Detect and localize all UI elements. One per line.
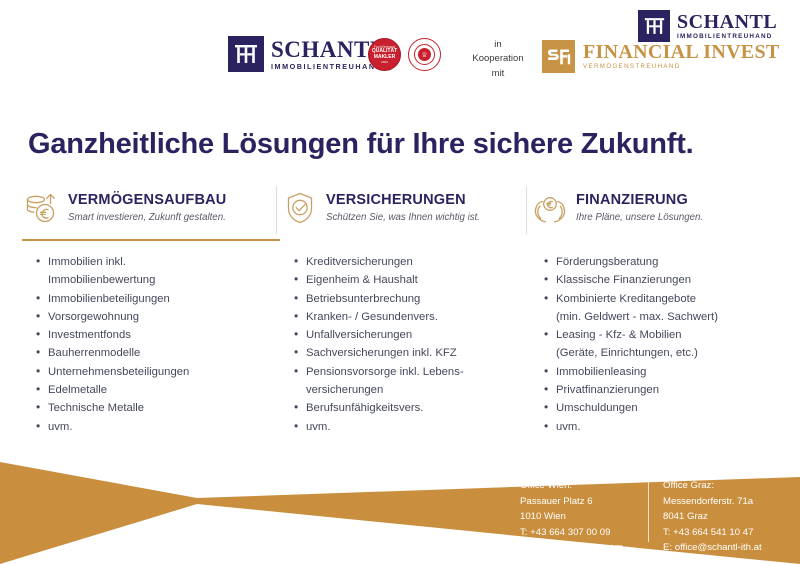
seal-crest: ♕	[418, 48, 431, 61]
list-item: Edelmetalle	[36, 381, 280, 399]
list-item: Eigenheim & Haushalt	[294, 271, 530, 289]
office-graz-city: 8041 Graz	[663, 509, 779, 525]
list-item: Unfallversicherungen	[294, 326, 530, 344]
ith-monogram-icon	[228, 36, 264, 72]
seal-inner-ring: ♕	[414, 44, 435, 65]
column-finanzierung: FINANZIERUNG Ihre Pläne, unsere Lösungen…	[530, 186, 782, 436]
header-logo-bar: SCHANTL IMMOBILIENTREUHAND FachVerband Q…	[0, 0, 800, 105]
treuhaender-seal-icon: ♕	[408, 38, 441, 71]
list-item: Kreditversicherungen	[294, 253, 530, 271]
list-item: Bauherrenmodelle	[36, 344, 280, 362]
list-item: Unternehmensbeteiligungen	[36, 363, 280, 381]
column-versicherungen: VERSICHERUNGEN Schützen Sie, was Ihnen w…	[280, 186, 530, 436]
seal-mid-text: QUALITÄTMAKLER	[372, 49, 397, 60]
service-list-versicherungen: KreditversicherungenEigenheim & Haushalt…	[280, 253, 530, 436]
list-item: Investmentfonds	[36, 326, 280, 344]
cooperation-line-3: mit	[468, 67, 528, 81]
list-item: Leasing - Kfz- & Mobilien	[544, 326, 782, 344]
list-item: Klassische Finanzierungen	[544, 271, 782, 289]
column-title: FINANZIERUNG	[576, 193, 703, 209]
office-wien-city: 1010 Wien	[520, 509, 648, 525]
office-graz-block: Office Graz: Messendorferstr. 71a 8041 G…	[649, 478, 779, 556]
office-wien-email[interactable]: E: office@sfi-invest.com	[520, 540, 648, 556]
list-item: Umschuldungen	[544, 399, 782, 417]
coins-euro-growth-icon	[22, 189, 62, 227]
poster-page: SCHANTL IMMOBILIENTREUHAND FachVerband Q…	[0, 0, 800, 564]
hands-euro-coin-icon	[530, 189, 570, 227]
office-graz-title: Office Graz:	[663, 478, 779, 494]
shield-check-icon	[280, 189, 320, 227]
office-graz-street: Messendorferstr. 71a	[663, 494, 779, 510]
list-item: (min. Geldwert - max. Sachwert)	[544, 308, 782, 326]
gold-divider-rule	[22, 239, 280, 241]
column-title: VERSICHERUNGEN	[326, 193, 480, 209]
logo-subtitle-vermoegenstreuhand: VERMÖGENSTREUHAND	[583, 64, 780, 70]
column-header: VERMÖGENSAUFBAU Smart investieren, Zukun…	[22, 186, 280, 230]
list-item: versicherungen	[294, 381, 530, 399]
office-wien-phone[interactable]: T: +43 664 307 00 09	[520, 525, 648, 541]
cooperation-line-1: in	[468, 38, 528, 52]
list-item: uvm.	[544, 418, 782, 436]
service-list-finanzierung: FörderungsberatungKlassische Finanzierun…	[530, 253, 782, 436]
office-wien-block: Office Wien: Passauer Platz 6 1010 Wien …	[520, 478, 648, 556]
footer-office-details: Office Wien: Passauer Platz 6 1010 Wien …	[520, 478, 779, 556]
sfi-monogram-icon	[542, 40, 575, 73]
gold-divider-rule	[280, 239, 530, 241]
ith-monogram-corner-icon	[638, 10, 670, 42]
list-item: Kranken- / Gesundenvers.	[294, 308, 530, 326]
logo-subtitle-immobilientreuhand: IMMOBILIENTREUHAND	[271, 63, 386, 70]
quality-seal-red-icon: FachVerband QUALITÄTMAKLER 2024	[368, 38, 401, 71]
corner-logo-subtitle: IMMOBILIENTREUHAND	[677, 34, 777, 40]
seal-bottom-text: 2024	[381, 60, 388, 64]
column-title: VERMÖGENSAUFBAU	[68, 193, 226, 209]
office-wien-street: Passauer Platz 6	[520, 494, 648, 510]
logo-ith-schantl-corner: SCHANTL IMMOBILIENTREUHAND	[638, 10, 777, 42]
list-item: Sachversicherungen inkl. KFZ	[294, 344, 530, 362]
gold-divider-rule	[530, 239, 782, 241]
list-item: (Geräte, Einrichtungen, etc.)	[544, 344, 782, 362]
list-item: uvm.	[294, 418, 530, 436]
cooperation-note: in Kooperation mit	[468, 38, 528, 81]
column-tagline: Smart investieren, Zukunft gestalten.	[68, 212, 226, 223]
list-item: Technische Metalle	[36, 399, 280, 417]
office-graz-phone[interactable]: T: +43 664 541 10 47	[663, 525, 779, 541]
list-item: Kombinierte Kreditangebote	[544, 290, 782, 308]
column-header: VERSICHERUNGEN Schützen Sie, was Ihnen w…	[280, 186, 530, 230]
list-item: Privatfinanzierungen	[544, 381, 782, 399]
column-tagline: Ihre Pläne, unsere Lösungen.	[576, 212, 703, 223]
column-tagline: Schützen Sie, was Ihnen wichtig ist.	[326, 212, 480, 223]
office-wien-title: Office Wien:	[520, 478, 648, 494]
column-separator-2	[526, 186, 527, 234]
list-item: uvm.	[36, 418, 280, 436]
list-item: Pensionsvorsorge inkl. Lebens-	[294, 363, 530, 381]
column-separator-1	[276, 186, 277, 234]
column-header: FINANZIERUNG Ihre Pläne, unsere Lösungen…	[530, 186, 782, 230]
logo-name-financial-invest: FINANCIAL INVEST	[583, 42, 780, 62]
list-item: Immobilien inkl.	[36, 253, 280, 271]
corner-logo-name: SCHANTL	[677, 12, 777, 32]
list-item: Förderungsberatung	[544, 253, 782, 271]
services-columns: VERMÖGENSAUFBAU Smart investieren, Zukun…	[22, 186, 782, 436]
page-headline: Ganzheitliche Lösungen für Ihre sichere …	[28, 128, 778, 161]
list-item: Immobilienbeteiligungen	[36, 290, 280, 308]
list-item: Immobilienleasing	[544, 363, 782, 381]
list-item: Betriebsunterbrechung	[294, 290, 530, 308]
service-list-vermoegensaufbau: Immobilien inkl.ImmobilienbewertungImmob…	[22, 253, 280, 436]
office-graz-email[interactable]: E: office@schantl-ith.at	[663, 540, 779, 556]
logo-ith-schantl-primary: SCHANTL IMMOBILIENTREUHAND	[228, 36, 386, 72]
list-item: Berufsunfähigkeitsvers.	[294, 399, 530, 417]
column-vermoegensaufbau: VERMÖGENSAUFBAU Smart investieren, Zukun…	[22, 186, 280, 436]
cooperation-line-2: Kooperation	[468, 52, 528, 66]
logo-sfi-financial-invest: FINANCIAL INVEST VERMÖGENSTREUHAND	[542, 40, 780, 73]
list-item: Vorsorgewohnung	[36, 308, 280, 326]
list-item: Immobilienbewertung	[36, 271, 280, 289]
